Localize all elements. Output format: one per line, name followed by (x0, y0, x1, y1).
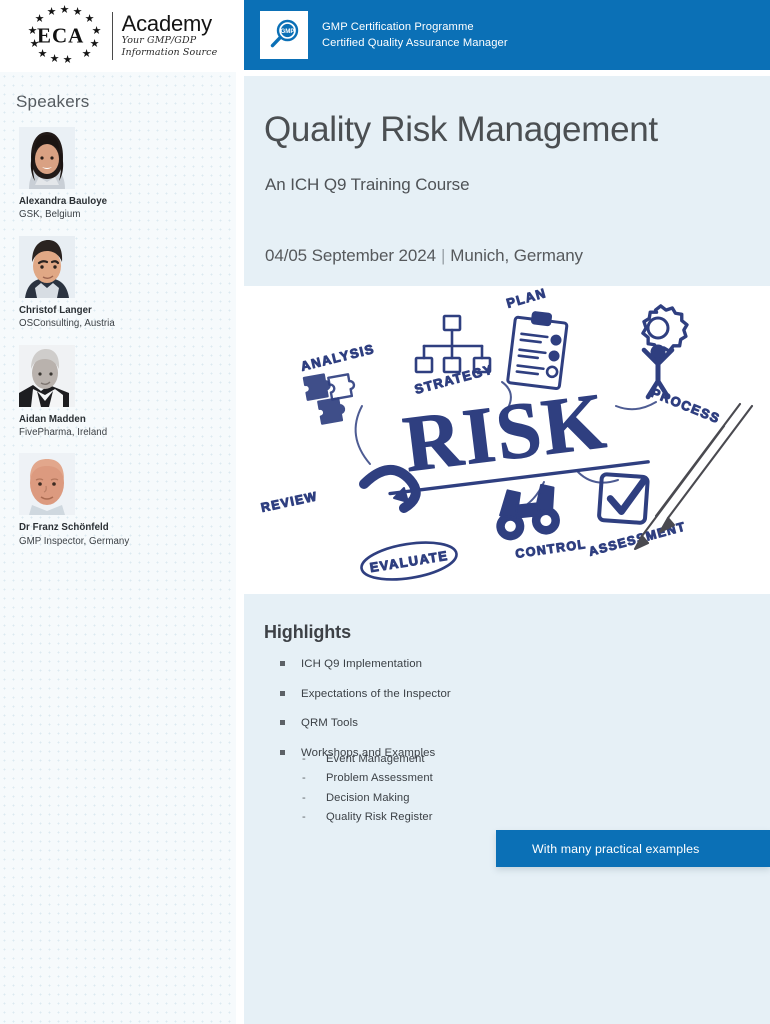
eca-stars-emblem: ★ ★ ★ ★ ★ ★ ★ ★ ★ ★ ★ ★ ★ ECA (19, 7, 103, 65)
speaker-name: Alexandra Bauloye (19, 195, 229, 208)
highlight-item: ICH Q9 Implementation (279, 658, 739, 672)
highlight-subitem: - Problem Assessment (300, 771, 720, 786)
banner-text: With many practical examples (532, 842, 699, 856)
highlight-subitem: - Decision Making (300, 791, 720, 806)
gmp-magnifier-icon: GMP (260, 11, 308, 59)
portrait-alexandra-bauloye (19, 127, 75, 189)
highlight-subtext: Problem Assessment (326, 772, 433, 784)
speaker-item: Christof Langer OSConsulting, Austria (19, 236, 229, 331)
speaker-org: GMP Inspector, Germany (19, 535, 229, 548)
course-meta: 04/05 September 2024|Munich, Germany (265, 246, 583, 266)
highlight-text: QRM Tools (301, 717, 358, 729)
highlights-section: Highlights ICH Q9 Implementation Expecta… (244, 594, 770, 1024)
practical-examples-banner: With many practical examples (496, 830, 770, 867)
programme-line-2: Certified Quality Assurance Manager (322, 35, 508, 51)
speaker-org: FivePharma, Ireland (19, 426, 229, 439)
page-title: Quality Risk Management (264, 112, 658, 147)
speakers-heading: Speakers (16, 92, 89, 112)
logo-tagline-line1: Your GMP/GDP (122, 35, 218, 47)
eca-acronym: ECA (37, 24, 84, 49)
logo-divider (112, 12, 113, 60)
portrait-christof-langer (19, 236, 75, 298)
highlights-sublist: - Event Management - Problem Assessment … (300, 752, 720, 830)
highlight-item: QRM Tools (279, 717, 739, 731)
highlight-subitem: - Quality Risk Register (300, 810, 720, 825)
bullet-dash-icon: - (302, 810, 306, 825)
logo-tagline-line2: Information Source (122, 47, 218, 59)
highlight-text: ICH Q9 Implementation (301, 658, 422, 670)
highlight-subtext: Event Management (326, 753, 425, 765)
bullet-square-icon (280, 720, 285, 725)
programme-line-1: GMP Certification Programme (322, 19, 508, 35)
speaker-name: Christof Langer (19, 304, 229, 317)
bullet-dash-icon: - (302, 752, 306, 767)
bullet-square-icon (280, 691, 285, 696)
content-column: GMP GMP Certification Programme Certifie… (244, 0, 770, 1024)
speaker-item: Dr Franz Schönfeld GMP Inspector, German… (19, 453, 229, 548)
bullet-dash-icon: - (302, 791, 306, 806)
speaker-item: Alexandra Bauloye GSK, Belgium (19, 127, 229, 222)
svg-text:GMP: GMP (280, 28, 294, 35)
bullet-square-icon (280, 661, 285, 666)
logo-academy-word: Academy (122, 13, 218, 35)
page-subtitle: An ICH Q9 Training Course (265, 175, 469, 195)
eca-academy-logo[interactable]: ★ ★ ★ ★ ★ ★ ★ ★ ★ ★ ★ ★ ★ ECA Aca (0, 0, 236, 72)
portrait-aidan-madden (19, 345, 75, 407)
sidebar: ★ ★ ★ ★ ★ ★ ★ ★ ★ ★ ★ ★ ★ ECA Aca (0, 0, 236, 1024)
course-location: Munich, Germany (450, 246, 583, 265)
highlight-subtext: Decision Making (326, 792, 410, 804)
practical-examples-banner-wrap: With many practical examples (496, 830, 770, 867)
bullet-square-icon (280, 750, 285, 755)
highlight-subitem: - Event Management (300, 752, 720, 767)
speaker-org: GSK, Belgium (19, 208, 229, 221)
speaker-name: Aidan Madden (19, 413, 229, 426)
brochure-page: ★ ★ ★ ★ ★ ★ ★ ★ ★ ★ ★ ★ ★ ECA Aca (0, 0, 770, 1024)
highlight-item: Expectations of the Inspector (279, 688, 739, 702)
programme-header: GMP GMP Certification Programme Certifie… (244, 0, 770, 70)
speaker-org: OSConsulting, Austria (19, 317, 229, 330)
speakers-list: Alexandra Bauloye GSK, Belgium Christof … (19, 127, 229, 562)
portrait-franz-schoenfeld (19, 453, 75, 515)
speaker-item: Aidan Madden FivePharma, Ireland (19, 345, 229, 440)
hero-illustration: ANALYSIS (244, 286, 770, 594)
speaker-name: Dr Franz Schönfeld (19, 521, 229, 534)
title-block: Quality Risk Management An ICH Q9 Traini… (244, 76, 770, 286)
highlight-text: Expectations of the Inspector (301, 688, 451, 700)
programme-header-text: GMP Certification Programme Certified Qu… (322, 19, 508, 51)
course-date: 04/05 September 2024 (265, 246, 436, 265)
highlights-heading: Highlights (264, 622, 351, 643)
meta-separator: | (436, 246, 450, 265)
highlight-subtext: Quality Risk Register (326, 811, 433, 823)
bullet-dash-icon: - (302, 771, 306, 786)
